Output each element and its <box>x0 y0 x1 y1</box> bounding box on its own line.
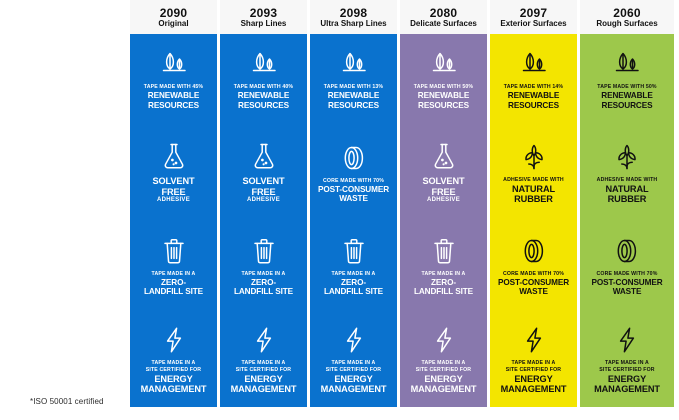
left-margin: *ISO 50001 certified <box>0 0 130 420</box>
benefit-headline: SolventFree <box>242 176 284 197</box>
lightning-bolt-icon <box>522 325 546 355</box>
flask-icon <box>250 141 278 171</box>
leaves-icon <box>159 49 189 79</box>
product-code: 2093 <box>250 7 278 19</box>
product-name: Rough Surfaces <box>596 20 657 28</box>
benefit-qualifier: Tape made in aSite certified for <box>146 360 201 374</box>
leaves-icon <box>519 49 549 79</box>
product-name: Sharp Lines <box>241 20 287 28</box>
product-code: 2060 <box>613 7 641 19</box>
benefit-headline: Post-ConsumerWaste <box>498 278 569 296</box>
roll-icon <box>520 236 548 266</box>
trash-bin-icon <box>251 236 277 266</box>
product-column-2093[interactable]: 2093Sharp LinesTape made with 40%Renewab… <box>220 0 310 420</box>
benefit-cell: Adhesive made withNaturalRubber <box>580 127 674 220</box>
benefit-qualifier: Tape made with 13% <box>324 84 383 91</box>
benefit-headline: EnergyManagement <box>321 374 387 395</box>
benefit-qualifier: Tape made with 40% <box>234 84 293 91</box>
benefit-headline: EnergyManagement <box>231 374 297 395</box>
benefit-qualifier: Tape made with 50% <box>414 84 473 91</box>
column-body-2097: Tape made with 14%RenewableResourcesAdhe… <box>490 34 577 407</box>
benefit-cell: SolventFreeAdhesive <box>400 127 487 220</box>
benefit-qualifier: Tape made in aSite certified for <box>416 360 471 374</box>
benefit-headline: RenewableResources <box>418 91 469 109</box>
benefit-cell: SolventFreeAdhesive <box>130 127 217 220</box>
benefit-qualifier: Tape made in a <box>152 271 196 278</box>
lightning-bolt-icon <box>615 325 639 355</box>
trash-bin-icon <box>161 236 187 266</box>
benefit-cell: Tape made with 40%RenewableResources <box>220 34 307 127</box>
product-code: 2098 <box>340 7 368 19</box>
benefit-headline: RenewableResources <box>328 91 379 109</box>
benefit-cell: Tape made in aSite certified forEnergyMa… <box>490 314 577 407</box>
benefit-subline: Adhesive <box>247 197 280 204</box>
benefit-headline: SolventFree <box>422 176 464 197</box>
column-body-2098: Tape made with 13%RenewableResourcesCore… <box>310 34 397 407</box>
benefit-cell: Tape made in aSite certified forEnergyMa… <box>580 314 674 407</box>
product-column-2090[interactable]: 2090OriginalTape made with 45%RenewableR… <box>130 0 220 420</box>
column-header-2093: 2093Sharp Lines <box>220 0 307 34</box>
product-code: 2097 <box>520 7 548 19</box>
benefit-cell: Tape made with 13%RenewableResources <box>310 34 397 127</box>
leaves-icon <box>612 49 642 79</box>
flask-icon <box>160 141 188 171</box>
benefit-qualifier: Adhesive made with <box>503 177 564 184</box>
benefit-qualifier: Tape made with 50% <box>597 84 656 91</box>
product-sustainability-comparison-board: *ISO 50001 certified 2090OriginalTape ma… <box>0 0 679 420</box>
benefit-qualifier: Core made with 70% <box>323 178 384 185</box>
product-name: Delicate Surfaces <box>410 20 477 28</box>
benefit-qualifier: Tape made in aSite certified for <box>599 360 654 374</box>
benefit-qualifier: Core made with 70% <box>597 271 658 278</box>
product-name: Ultra Sharp Lines <box>320 20 386 28</box>
benefit-qualifier: Tape made in a <box>332 271 376 278</box>
benefit-cell: SolventFreeAdhesive <box>220 127 307 220</box>
product-name: Original <box>158 20 188 28</box>
benefit-headline: Post-ConsumerWaste <box>318 185 389 203</box>
benefit-cell: Tape made in aZero-Landfill Site <box>220 221 307 314</box>
benefit-headline: RenewableResources <box>508 91 559 109</box>
product-code: 2080 <box>430 7 458 19</box>
benefit-cell: Tape made in aSite certified forEnergyMa… <box>310 314 397 407</box>
benefit-cell: Core made with 70%Post-ConsumerWaste <box>490 221 577 314</box>
flask-icon <box>430 141 458 171</box>
benefit-headline: EnergyManagement <box>594 374 660 395</box>
lightning-bolt-icon <box>252 325 276 355</box>
benefit-qualifier: Adhesive made with <box>597 177 658 184</box>
column-body-2093: Tape made with 40%RenewableResourcesSolv… <box>220 34 307 407</box>
product-column-2060[interactable]: 2060Rough SurfacesTape made with 50%Rene… <box>580 0 674 420</box>
lightning-bolt-icon <box>342 325 366 355</box>
benefit-qualifier: Core made with 70% <box>503 271 564 278</box>
column-body-2090: Tape made with 45%RenewableResourcesSolv… <box>130 34 217 407</box>
product-column-2098[interactable]: 2098Ultra Sharp LinesTape made with 13%R… <box>310 0 400 420</box>
column-body-2060: Tape made with 50%RenewableResourcesAdhe… <box>580 34 674 407</box>
benefit-headline: NaturalRubber <box>605 184 648 205</box>
benefit-headline: Zero-Landfill Site <box>144 278 203 296</box>
leaves-icon <box>339 49 369 79</box>
benefit-cell: Tape made in aZero-Landfill Site <box>400 221 487 314</box>
product-code: 2090 <box>160 7 188 19</box>
benefit-qualifier: Tape made with 14% <box>504 84 563 91</box>
column-body-2080: Tape made with 50%RenewableResourcesSolv… <box>400 34 487 407</box>
benefit-headline: SolventFree <box>152 176 194 197</box>
benefit-qualifier: Tape made in a <box>422 271 466 278</box>
benefit-headline: NaturalRubber <box>512 184 555 205</box>
benefit-headline: EnergyManagement <box>501 374 567 395</box>
benefit-headline: RenewableResources <box>238 91 289 109</box>
rubber-plant-icon <box>519 142 549 172</box>
benefit-cell: Tape made in aSite certified forEnergyMa… <box>400 314 487 407</box>
benefit-cell: Adhesive made withNaturalRubber <box>490 127 577 220</box>
benefit-headline: EnergyManagement <box>141 374 207 395</box>
benefit-qualifier: Tape made in aSite certified for <box>236 360 291 374</box>
trash-bin-icon <box>431 236 457 266</box>
benefit-cell: Tape made with 50%RenewableResources <box>580 34 674 127</box>
product-column-2097[interactable]: 2097Exterior SurfacesTape made with 14%R… <box>490 0 580 420</box>
leaves-icon <box>429 49 459 79</box>
benefit-qualifier: Tape made in aSite certified for <box>506 360 561 374</box>
column-header-2097: 2097Exterior Surfaces <box>490 0 577 34</box>
benefit-headline: RenewableResources <box>601 91 652 109</box>
rubber-plant-icon <box>612 142 642 172</box>
roll-icon <box>340 143 368 173</box>
benefit-cell: Tape made with 50%RenewableResources <box>400 34 487 127</box>
benefit-headline: Zero-Landfill Site <box>414 278 473 296</box>
product-name: Exterior Surfaces <box>500 20 566 28</box>
benefit-subline: Adhesive <box>427 197 460 204</box>
column-header-2098: 2098Ultra Sharp Lines <box>310 0 397 34</box>
benefit-headline: RenewableResources <box>148 91 199 109</box>
benefit-headline: EnergyManagement <box>411 374 477 395</box>
benefit-cell: Tape made with 14%RenewableResources <box>490 34 577 127</box>
benefit-qualifier: Tape made with 45% <box>144 84 203 91</box>
benefit-subline: Adhesive <box>157 197 190 204</box>
benefit-cell: Tape made in aZero-Landfill Site <box>310 221 397 314</box>
benefit-cell: Tape made in aSite certified forEnergyMa… <box>220 314 307 407</box>
benefit-cell: Core made with 70%Post-ConsumerWaste <box>580 221 674 314</box>
benefit-qualifier: Tape made in a <box>242 271 286 278</box>
footnote-iso-certified: *ISO 50001 certified <box>30 397 104 406</box>
benefit-cell: Core made with 70%Post-ConsumerWaste <box>310 127 397 220</box>
benefit-cell: Tape made in aSite certified forEnergyMa… <box>130 314 217 407</box>
benefit-qualifier: Tape made in aSite certified for <box>326 360 381 374</box>
lightning-bolt-icon <box>162 325 186 355</box>
benefit-headline: Zero-Landfill Site <box>324 278 383 296</box>
lightning-bolt-icon <box>432 325 456 355</box>
benefit-headline: Post-ConsumerWaste <box>591 278 662 296</box>
benefit-cell: Tape made in aZero-Landfill Site <box>130 221 217 314</box>
trash-bin-icon <box>341 236 367 266</box>
column-header-2060: 2060Rough Surfaces <box>580 0 674 34</box>
benefit-headline: Zero-Landfill Site <box>234 278 293 296</box>
roll-icon <box>613 236 641 266</box>
product-columns: 2090OriginalTape made with 45%RenewableR… <box>130 0 679 420</box>
benefit-cell: Tape made with 45%RenewableResources <box>130 34 217 127</box>
column-header-2090: 2090Original <box>130 0 217 34</box>
leaves-icon <box>249 49 279 79</box>
column-header-2080: 2080Delicate Surfaces <box>400 0 487 34</box>
product-column-2080[interactable]: 2080Delicate SurfacesTape made with 50%R… <box>400 0 490 420</box>
